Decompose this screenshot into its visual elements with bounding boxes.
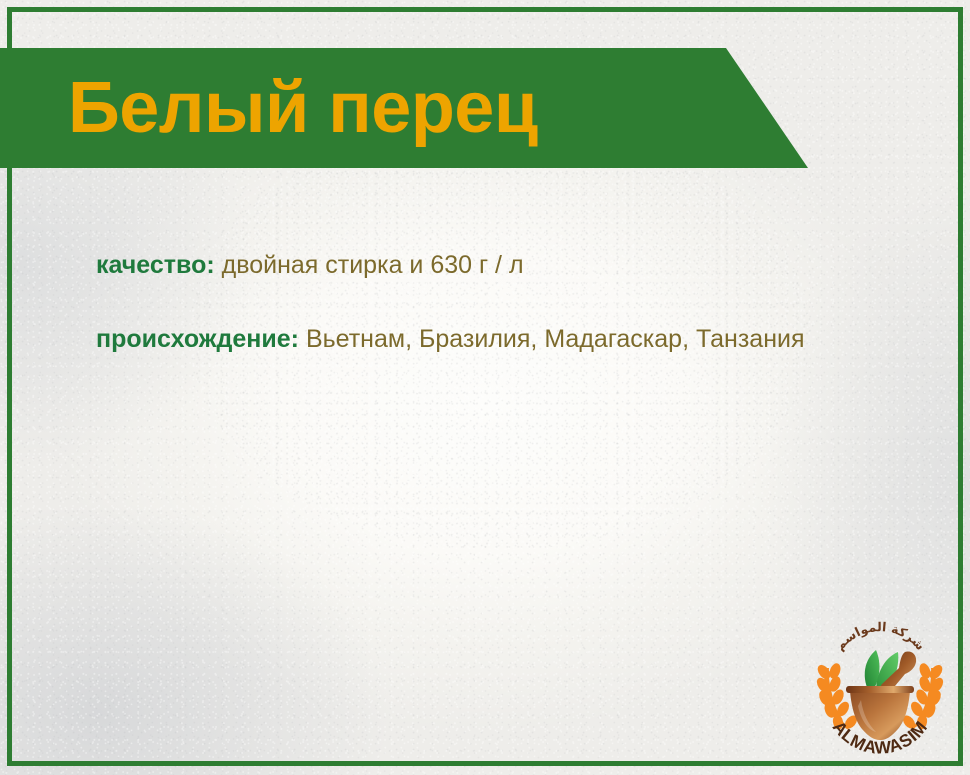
spec-label-origin: происхождение: bbox=[96, 325, 299, 353]
spec-label-quality: качество: bbox=[96, 251, 215, 279]
logo-arabic-name: شركة المواسم bbox=[832, 619, 928, 653]
spec-row-quality: качество: двойная стирка и 630 г / л bbox=[96, 248, 926, 282]
title-banner: Белый перец bbox=[0, 48, 808, 168]
spec-value-origin: Вьетнам, Бразилия, Мадагаскар, Танзания bbox=[299, 325, 805, 353]
company-logo: شركة المواسم ALMAWASIM bbox=[806, 612, 954, 760]
spec-row-origin: происхождение: Вьетнам, Бразилия, Мадага… bbox=[96, 322, 926, 356]
specifications-block: качество: двойная стирка и 630 г / л про… bbox=[96, 248, 926, 356]
spec-value-quality: двойная стирка и 630 г / л bbox=[215, 251, 524, 279]
poster-canvas: Белый перец качество: двойная стирка и 6… bbox=[0, 0, 970, 775]
page-title: Белый перец bbox=[68, 72, 538, 144]
